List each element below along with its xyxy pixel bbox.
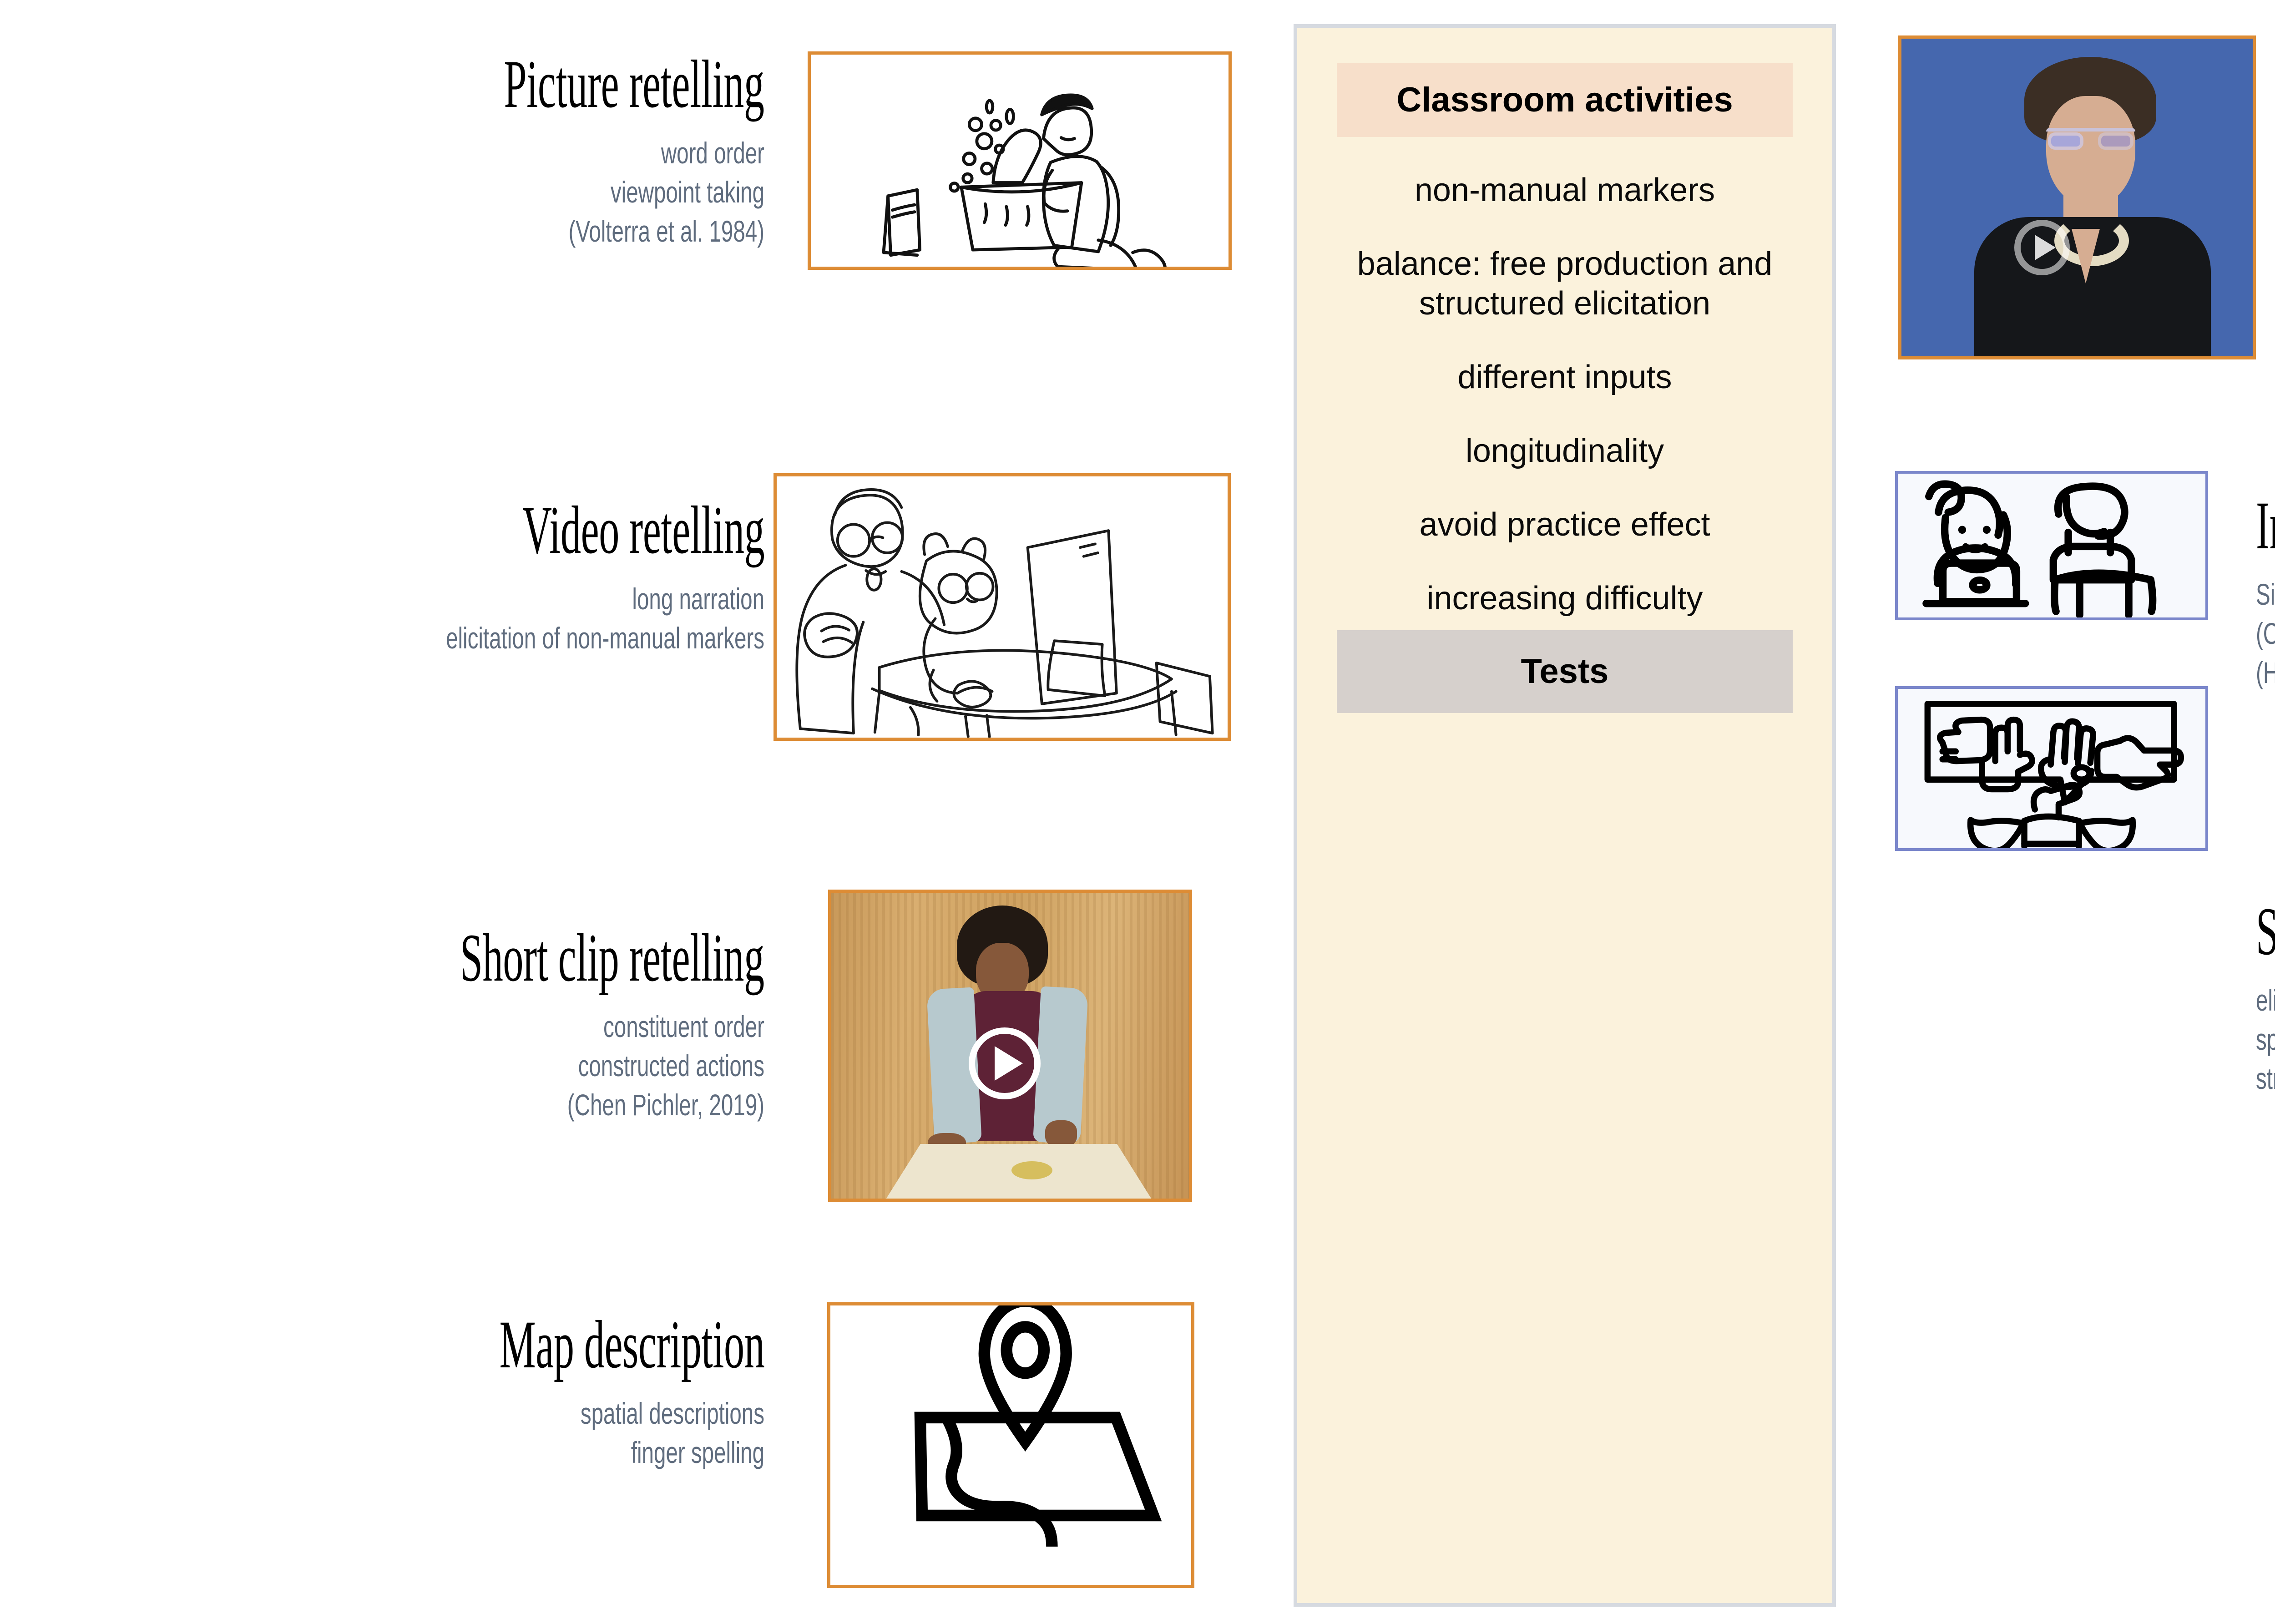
center-panel-footer-tests: Tests — [1337, 630, 1793, 713]
page-title-sentence-repetition-test: Sentence Repetition Test — [2256, 897, 2275, 966]
left-item-picture-retelling: Picture retelling word order viewpoint t… — [55, 50, 764, 251]
center-panel-item-6: increasing difficulty — [1328, 579, 1801, 619]
video-table-object — [1011, 1161, 1052, 1179]
picture-retelling-subtitle-line-2: viewpoint taking — [253, 173, 764, 212]
page-title-map-description: Map description — [499, 1310, 764, 1379]
right-item-sentence-repetition-test: Sentence Repetition Test elicitation of … — [2256, 897, 2275, 1098]
map-pin-icon — [830, 1305, 1191, 1585]
video-retelling-subtitle-line-2: elicitation of non-manual markers — [221, 619, 764, 658]
left-item-video-retelling: Video retelling long narration elicitati… — [9, 496, 764, 658]
short-clip-retelling-title-wrap: Short clip retelling — [27, 924, 764, 992]
video-retelling-subtitle-line-1: long narration — [221, 580, 764, 619]
signer-glasses — [2046, 128, 2135, 148]
short-clip-retelling-video-frame[interactable]: [data-name="short-clip-retelling-video-f… — [828, 890, 1192, 1202]
page-title-interview: Interview — [2256, 491, 2275, 560]
short-clip-retelling-subtitle-line-1: constituent order — [234, 1007, 764, 1047]
play-button-icon[interactable] — [969, 1027, 1041, 1099]
sentence-repetition-test-subtitle-line-1: elicitation of non-manuals — [2256, 981, 2275, 1020]
center-panel: Classroom activities non-manual markers … — [1294, 24, 1836, 1607]
center-panel-item-1: non-manual markers — [1328, 171, 1801, 211]
map-description-subtitle-line-2: finger spelling — [253, 1433, 764, 1472]
right-item-interview: Interview Sign language proficiency inte… — [2256, 491, 2275, 692]
left-item-short-clip-retelling: Short clip retelling constituent order c… — [27, 924, 764, 1124]
sentence-transformation-video-frame[interactable]: [data-name="sentence-transformation-vide… — [1898, 35, 2256, 359]
short-clip-retelling-subtitle-line-3: (Chen Pichler, 2019) — [234, 1086, 764, 1125]
picture-retelling-image-frame[interactable] — [808, 51, 1232, 270]
center-panel-item-2: balance: free production and structured … — [1328, 244, 1801, 324]
map-description-title-wrap: Map description — [55, 1310, 764, 1379]
picture-retelling-subtitle-line-3: (Volterra et al. 1984) — [253, 212, 764, 251]
sentence-repetition-test-subtitle-line-3: structures (Haug et al., 2020) — [2256, 1059, 2275, 1098]
line-drawing-man-cat-computer-icon — [777, 476, 1228, 738]
page-title-video-retelling: Video retelling — [522, 496, 764, 564]
sentence-repetition-test-image-frame[interactable] — [1895, 686, 2208, 851]
picture-retelling-subtitle-line-1: word order — [253, 134, 764, 173]
page-title-picture-retelling: Picture retelling — [504, 50, 764, 118]
video-retelling-title-wrap: Video retelling — [9, 496, 764, 564]
signer-face — [2046, 96, 2135, 207]
video-subject-hand-right — [1045, 1120, 1077, 1148]
two-people-interview-icon — [1898, 474, 2205, 617]
short-clip-retelling-subtitle-line-2: constructed actions — [234, 1047, 764, 1086]
center-panel-item-3: different inputs — [1328, 358, 1801, 398]
left-item-map-description: Map description spatial descriptions fin… — [55, 1310, 764, 1472]
center-panel-item-5: avoid practice effect — [1328, 505, 1801, 545]
map-description-image-frame[interactable] — [827, 1302, 1194, 1588]
sentence-repetition-test-subtitle-line-2: specific morphological and syntactic — [2256, 1020, 2275, 1059]
page-title-short-clip-retelling: Short clip retelling — [460, 924, 764, 992]
signing-hands-speech-bubble-icon — [1898, 689, 2205, 848]
line-drawing-person-washing-icon — [811, 55, 1228, 267]
center-panel-item-4: longitudinality — [1328, 431, 1801, 471]
map-description-subtitle-line-1: spatial descriptions — [253, 1394, 764, 1433]
interview-subtitle-line-3: (Haug et al., 2019) — [2256, 653, 2275, 693]
interview-image-frame[interactable] — [1895, 471, 2208, 620]
interview-subtitle-line-2: (OPI) — [2256, 614, 2275, 653]
play-button-icon[interactable] — [2014, 220, 2070, 275]
center-panel-header-classroom-activities: Classroom activities — [1337, 63, 1793, 137]
interview-subtitle-line-1: Sign language proficiency interview — [2256, 575, 2275, 614]
video-retelling-image-frame[interactable] — [773, 473, 1231, 741]
picture-retelling-title-wrap: Picture retelling — [55, 50, 764, 118]
